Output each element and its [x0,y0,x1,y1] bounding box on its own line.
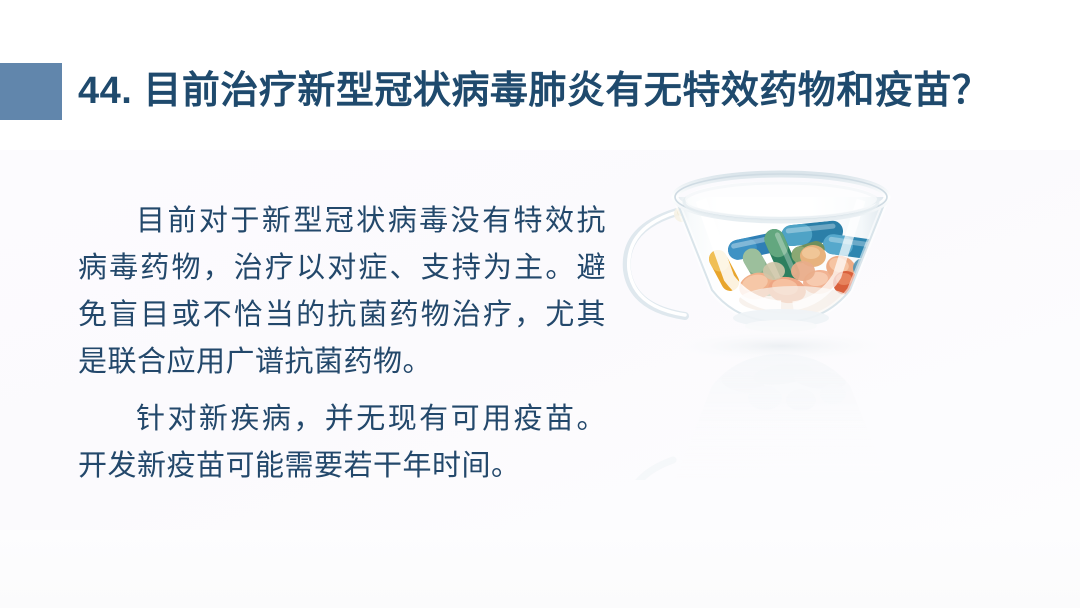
body-copy: 目前对于新型冠状病毒没有特效抗病毒药物，治疗以对症、支持为主。避免盲目或不恰当的… [78,198,606,490]
title-accent-bar [0,63,62,120]
title-row: 44. 目前治疗新型冠状病毒肺炎有无特效药物和疫苗？ [0,60,1080,124]
paragraph-1: 目前对于新型冠状病毒没有特效抗病毒药物，治疗以对症、支持为主。避免盲目或不恰当的… [78,198,606,386]
cup-reflection [628,354,887,480]
paragraph-2: 针对新疾病，并无现有可用疫苗。开发新疫苗可能需要若干年时间。 [78,396,606,490]
glass-teacup-with-pills-image [615,150,1015,480]
cup-handle [627,212,685,316]
slide-root: 44. 目前治疗新型冠状病毒肺炎有无特效药物和疫苗？ 目前对于新型冠状病毒没有特… [0,0,1080,608]
background-panel-lower [0,530,1080,608]
page-title: 44. 目前治疗新型冠状病毒肺炎有无特效药物和疫苗？ [78,60,990,124]
